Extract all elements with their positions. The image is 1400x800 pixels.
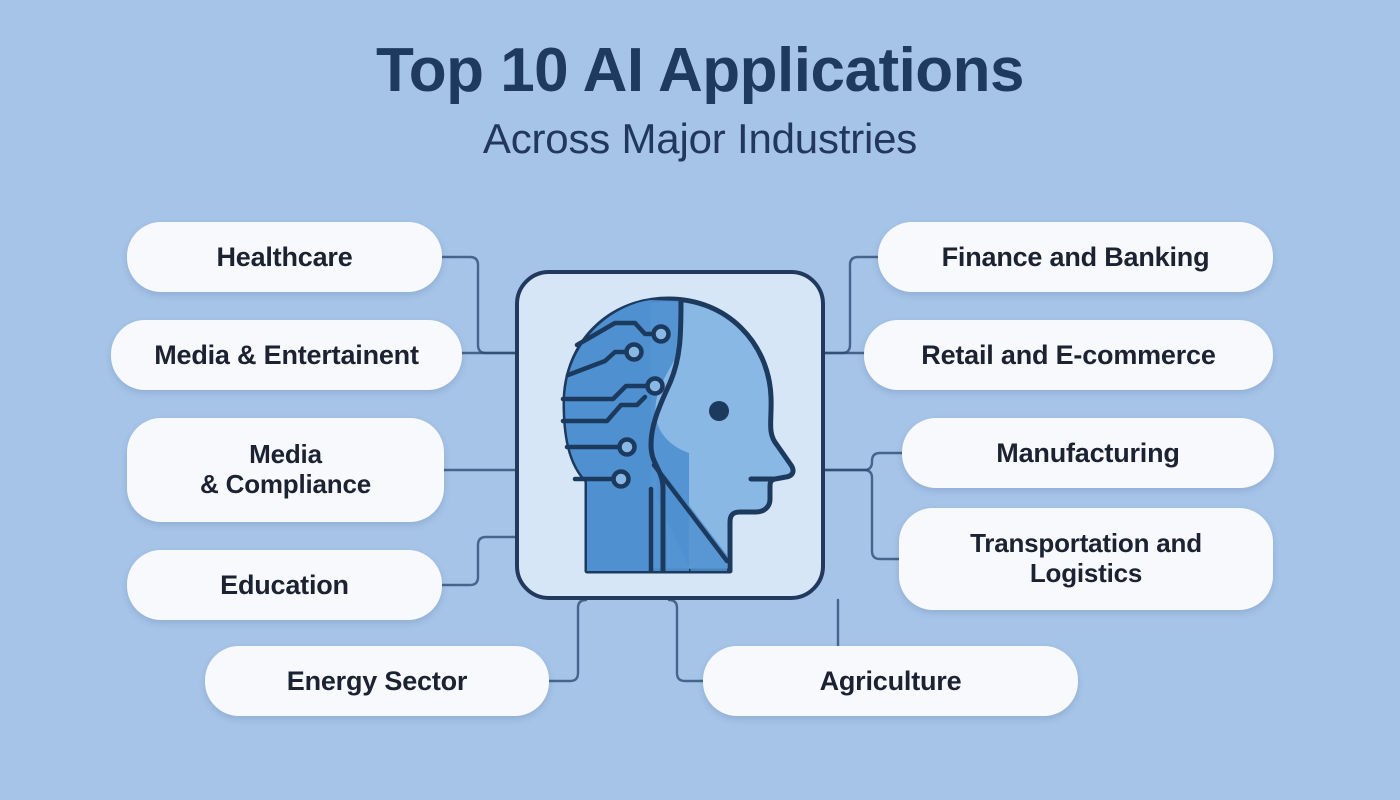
label-text-education: Education	[220, 570, 349, 601]
label-pill-education[interactable]: Education	[127, 550, 442, 620]
label-text-manufacturing: Manufacturing	[996, 438, 1179, 469]
connector-agriculture	[669, 600, 703, 681]
connector-education	[442, 537, 515, 585]
label-pill-finance-banking[interactable]: Finance and Banking	[878, 222, 1273, 292]
label-text-media-compliance: Media & Compliance	[200, 440, 371, 499]
label-pill-healthcare[interactable]: Healthcare	[127, 222, 442, 292]
center-panel	[515, 270, 825, 600]
ai-head-circuit-icon	[541, 293, 799, 577]
connector-energy	[549, 600, 586, 681]
circuit-node-4	[620, 440, 635, 455]
infographic-canvas: Top 10 AI Applications Across Major Indu…	[0, 0, 1400, 800]
circuit-node-2	[627, 345, 642, 360]
label-pill-transportation-logistics[interactable]: Transportation and Logistics	[899, 508, 1273, 610]
page-title: Top 10 AI Applications	[0, 38, 1400, 104]
page-subtitle: Across Major Industries	[0, 116, 1400, 162]
connector-manufacturing	[825, 453, 902, 470]
label-text-finance-banking: Finance and Banking	[942, 242, 1210, 273]
label-text-transportation-logistics: Transportation and Logistics	[970, 529, 1202, 588]
label-pill-retail-ecommerce[interactable]: Retail and E-commerce	[864, 320, 1273, 390]
label-text-retail-ecommerce: Retail and E-commerce	[921, 340, 1215, 371]
connector-transport	[825, 470, 899, 559]
head-circuit-region	[565, 300, 651, 571]
label-text-agriculture: Agriculture	[820, 666, 962, 697]
title-block: Top 10 AI Applications Across Major Indu…	[0, 38, 1400, 162]
circuit-node-1	[654, 327, 669, 342]
label-pill-media-compliance[interactable]: Media & Compliance	[127, 418, 444, 522]
eye-icon	[709, 401, 729, 421]
label-text-media-entertainment: Media & Entertainent	[154, 340, 419, 371]
label-text-energy-sector: Energy Sector	[287, 666, 467, 697]
circuit-node-3	[648, 379, 663, 394]
label-pill-manufacturing[interactable]: Manufacturing	[902, 418, 1274, 488]
label-pill-media-entertainment[interactable]: Media & Entertainent	[111, 320, 462, 390]
label-pill-agriculture[interactable]: Agriculture	[703, 646, 1078, 716]
label-text-healthcare: Healthcare	[216, 242, 352, 273]
label-pill-energy-sector[interactable]: Energy Sector	[205, 646, 549, 716]
circuit-node-5	[614, 472, 629, 487]
